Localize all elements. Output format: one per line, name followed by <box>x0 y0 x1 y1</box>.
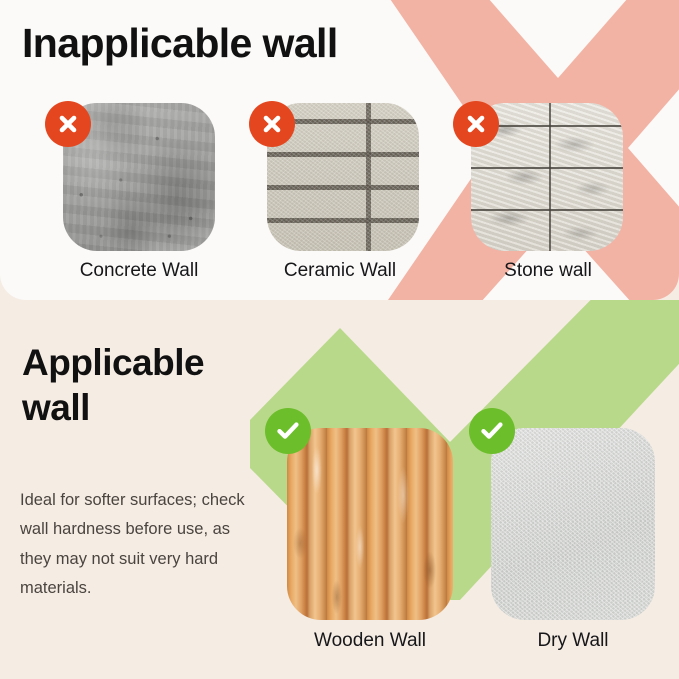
tile-stone-wall[interactable]: Stone wall <box>471 103 623 251</box>
check-badge-wooden-wall <box>265 408 311 454</box>
label-concrete-wall: Concrete Wall <box>80 260 199 282</box>
inapplicable-section: Inapplicable wall Concrete Wall Cera <box>0 0 679 300</box>
cross-badge-stone-wall <box>453 101 499 147</box>
infographic-page: Applicable wall Ideal for softer surface… <box>0 0 679 679</box>
label-stone-wall: Stone wall <box>504 260 592 282</box>
cross-badge-ceramic-wall <box>249 101 295 147</box>
cross-icon <box>260 112 284 136</box>
tile-dry-wall[interactable]: Dry Wall <box>491 428 655 620</box>
tile-ceramic-wall[interactable]: Ceramic Wall <box>267 103 419 251</box>
applicable-section: Applicable wall Ideal for softer surface… <box>0 300 679 679</box>
check-icon <box>275 418 301 444</box>
tile-concrete-wall[interactable]: Concrete Wall <box>63 103 215 251</box>
applicable-heading: Applicable wall <box>22 340 272 430</box>
cross-icon <box>464 112 488 136</box>
label-wooden-wall: Wooden Wall <box>314 630 426 652</box>
wood-grain-overlay <box>287 428 453 620</box>
check-icon <box>479 418 505 444</box>
swatch-dry-wall <box>491 428 655 620</box>
swatch-wooden-wall <box>287 428 453 620</box>
drywall-stipple-overlay <box>491 428 655 620</box>
label-ceramic-wall: Ceramic Wall <box>284 260 396 282</box>
cross-icon <box>56 112 80 136</box>
check-badge-dry-wall <box>469 408 515 454</box>
label-dry-wall: Dry Wall <box>537 630 608 652</box>
cross-badge-concrete-wall <box>45 101 91 147</box>
tile-wooden-wall[interactable]: Wooden Wall <box>287 428 453 620</box>
applicable-description: Ideal for softer surfaces; check wall ha… <box>20 486 265 603</box>
inapplicable-heading: Inapplicable wall <box>22 22 338 65</box>
